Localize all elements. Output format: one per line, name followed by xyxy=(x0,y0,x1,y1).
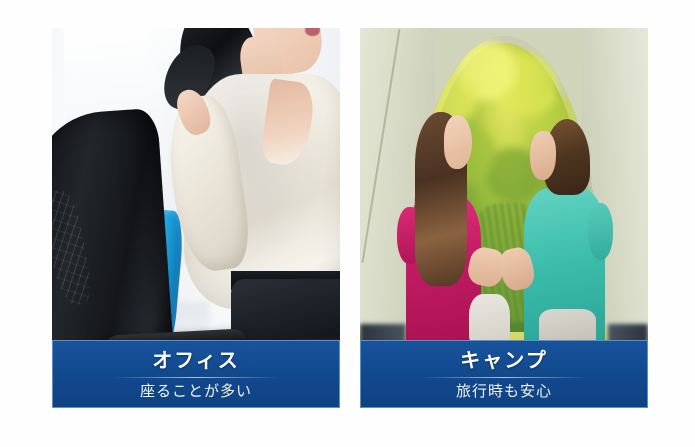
caption-camp: キャンプ 旅行時も安心 xyxy=(360,340,648,408)
girl-face xyxy=(444,115,473,168)
caption-camp-title: キャンプ xyxy=(460,350,547,370)
caption-divider xyxy=(112,377,280,378)
caption-office-subtitle: 座ることが多い xyxy=(140,384,252,399)
chair-mesh-texture xyxy=(52,187,94,307)
boy-sleeve xyxy=(588,203,614,260)
caption-camp-subtitle: 旅行時も安心 xyxy=(456,384,552,399)
boy-face xyxy=(530,131,556,180)
woman-lips xyxy=(305,28,319,36)
panel-office: オフィス 座ることが多い xyxy=(52,28,340,408)
caption-divider xyxy=(420,377,588,378)
panel-camp: キャンプ 旅行時も安心 xyxy=(360,28,648,408)
caption-office-title: オフィス xyxy=(152,350,240,370)
caption-office: オフィス 座ることが多い xyxy=(52,340,340,408)
product-feature-banner: オフィス 座ることが多い xyxy=(0,0,695,447)
